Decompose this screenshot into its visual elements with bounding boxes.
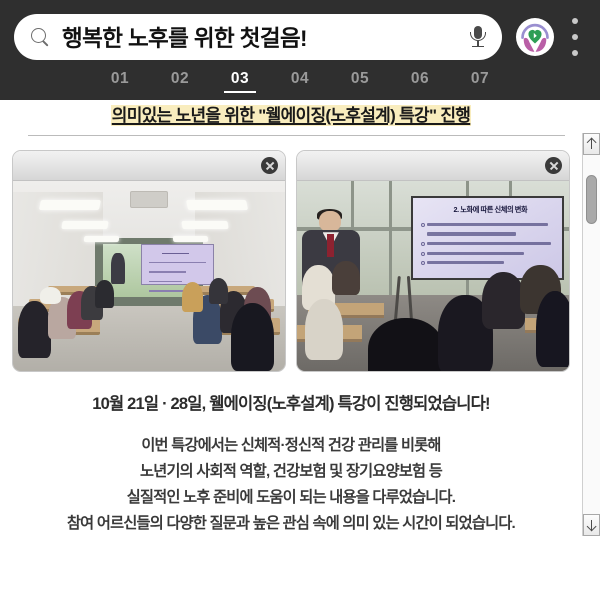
heart-in-hands-logo-icon (516, 18, 554, 56)
photo-card-2[interactable]: 2. 노화에 따른 신체의 변화 (296, 150, 570, 372)
photo-card-2-image: 2. 노화에 따른 신체의 변화 (297, 181, 569, 371)
search-input[interactable]: 행복한 노후를 위한 첫걸음! (62, 21, 462, 53)
lead-paragraph: 10월 21일 · 28일, 웰에이징(노후설계) 특강이 진행되었습니다! (0, 390, 582, 414)
body-line-3: 실질적인 노후 준비에 도움이 되는 내용을 다루었습니다. (0, 485, 582, 511)
photo-card-1-header (13, 151, 285, 181)
photo-card-1-image (13, 181, 285, 371)
slide-title: 2. 노화에 따른 신체의 변화 (428, 205, 553, 213)
app-window: 행복한 노후를 위한 첫걸음! (0, 0, 600, 600)
page-title: 의미있는 노년을 위한 "웰에이징(노후설계) 특강" 진행 (112, 106, 471, 125)
page-tab-07[interactable]: 07 (450, 70, 510, 93)
title-divider (28, 135, 565, 136)
photo-card-1[interactable] (12, 150, 286, 372)
close-icon[interactable] (545, 157, 562, 174)
page-tab-06[interactable]: 06 (390, 70, 450, 93)
body-line-1: 이번 특강에서는 신체적·정신적 건강 관리를 비롯해 (0, 433, 582, 459)
microphone-icon[interactable] (468, 24, 488, 50)
arrow-down-icon (586, 519, 597, 531)
photo-card-2-header (297, 151, 569, 181)
page-tabs: 01 02 03 04 05 06 07 (0, 70, 600, 100)
page-tab-05[interactable]: 05 (330, 70, 390, 93)
vertical-scrollbar[interactable] (582, 133, 600, 536)
body-paragraph: 이번 특강에서는 신체적·정신적 건강 관리를 비롯해 노년기의 사회적 역할,… (0, 433, 582, 538)
page-tab-03[interactable]: 03 (210, 70, 270, 93)
search-row: 행복한 노후를 위한 첫걸음! (0, 0, 600, 70)
page-title-wrap: 의미있는 노년을 위한 "웰에이징(노후설계) 특강" 진행 (0, 103, 582, 129)
body-line-2: 노년기의 사회적 역할, 건강보험 및 장기요양보험 등 (0, 459, 582, 485)
app-logo-badge[interactable] (516, 18, 554, 56)
photo-gallery: 2. 노화에 따른 신체의 변화 (12, 150, 570, 372)
body-line-4: 참여 어르신들의 다양한 질문과 높은 관심 속에 의미 있는 시간이 되었습니… (0, 511, 582, 537)
search-bar[interactable]: 행복한 노후를 위한 첫걸음! (14, 14, 502, 60)
page-tab-04[interactable]: 04 (270, 70, 330, 93)
search-icon (30, 27, 50, 47)
scrollbar-thumb[interactable] (586, 175, 597, 224)
scroll-down-button[interactable] (583, 514, 600, 536)
arrow-up-icon (586, 138, 597, 150)
document-content: 의미있는 노년을 위한 "웰에이징(노후설계) 특강" 진행 (0, 100, 600, 600)
browser-topbar: 행복한 노후를 위한 첫걸음! (0, 0, 600, 100)
scroll-up-button[interactable] (583, 133, 600, 155)
close-icon[interactable] (261, 157, 278, 174)
page-tab-02[interactable]: 02 (150, 70, 210, 93)
kebab-menu-icon[interactable] (568, 16, 582, 58)
page-tab-01[interactable]: 01 (90, 70, 150, 93)
